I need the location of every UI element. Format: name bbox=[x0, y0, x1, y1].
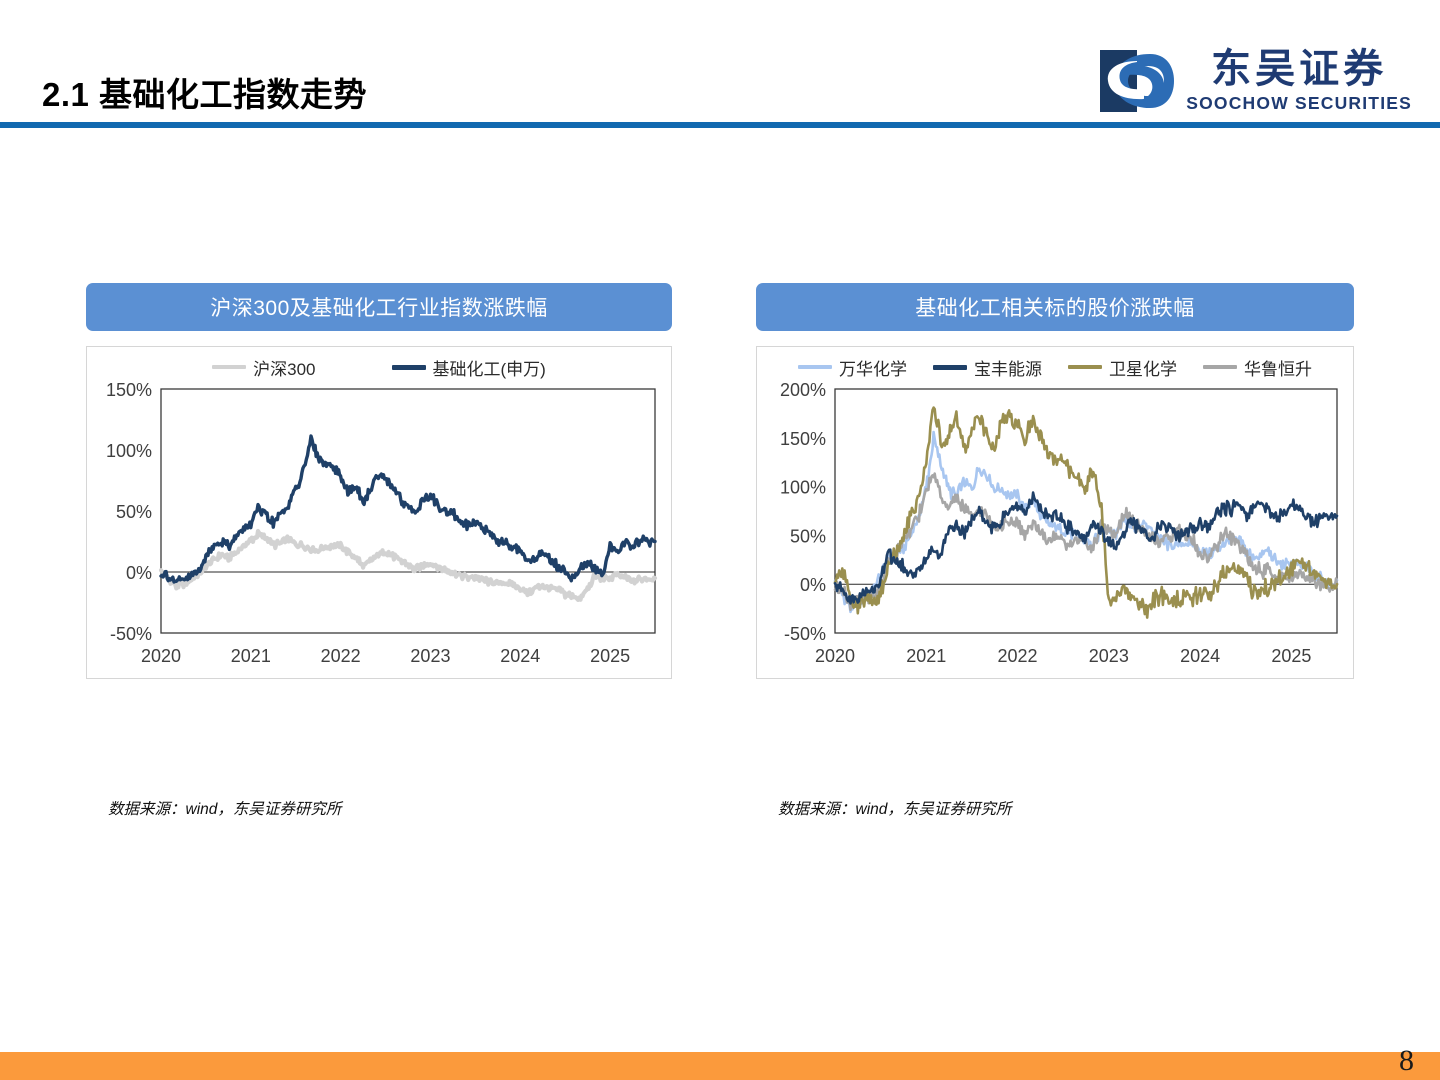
svg-text:2021: 2021 bbox=[906, 646, 946, 666]
svg-text:150%: 150% bbox=[780, 429, 826, 449]
chart-left-svg: -50%0%50%100%150%20202021202220232024202… bbox=[87, 381, 671, 673]
legend-label-hs300: 沪深300 bbox=[253, 355, 315, 380]
svg-text:-50%: -50% bbox=[110, 624, 152, 644]
svg-text:2020: 2020 bbox=[141, 646, 181, 666]
svg-text:2023: 2023 bbox=[410, 646, 450, 666]
svg-text:0%: 0% bbox=[126, 563, 152, 583]
legend-label-baofeng: 宝丰能源 bbox=[974, 355, 1042, 380]
svg-text:2025: 2025 bbox=[590, 646, 630, 666]
svg-text:100%: 100% bbox=[780, 478, 826, 498]
svg-text:2023: 2023 bbox=[1089, 646, 1129, 666]
legend-label-wanhua: 万华化学 bbox=[839, 355, 907, 380]
legend-swatch-chemicals bbox=[392, 365, 426, 370]
chart-left-banner-label: 沪深300及基础化工行业指数涨跌幅 bbox=[210, 292, 548, 322]
legend-label-weixing: 卫星化学 bbox=[1109, 355, 1177, 380]
legend-item-chemicals: 基础化工(申万) bbox=[392, 355, 546, 380]
chart-block-right: 基础化工相关标的股价涨跌幅 万华化学 宝丰能源 卫星化学 华鲁恒升 bbox=[756, 283, 1354, 679]
chart-right-frame: 万华化学 宝丰能源 卫星化学 华鲁恒升 -50%0%50%100%150%200… bbox=[756, 346, 1354, 679]
legend-label-hualu: 华鲁恒升 bbox=[1244, 355, 1312, 380]
header-divider-rule bbox=[0, 122, 1440, 128]
svg-text:0%: 0% bbox=[800, 575, 826, 595]
slide: 2.1 基础化工指数走势 东吴证券 SOOCHOW SECURITIES 沪深3… bbox=[0, 0, 1440, 1080]
logo-english-name: SOOCHOW SECURITIES bbox=[1186, 93, 1412, 114]
svg-text:2025: 2025 bbox=[1271, 646, 1311, 666]
chart-right-legend: 万华化学 宝丰能源 卫星化学 华鲁恒升 bbox=[757, 347, 1353, 381]
svg-text:2021: 2021 bbox=[231, 646, 271, 666]
chart-right-banner: 基础化工相关标的股价涨跌幅 bbox=[756, 283, 1354, 331]
legend-item-weixing: 卫星化学 bbox=[1068, 355, 1177, 380]
logo-chinese-name: 东吴证券 bbox=[1211, 48, 1387, 90]
legend-swatch-hualu bbox=[1203, 365, 1237, 369]
legend-item-hualu: 华鲁恒升 bbox=[1203, 355, 1312, 380]
svg-text:-50%: -50% bbox=[784, 624, 826, 644]
svg-text:50%: 50% bbox=[790, 526, 826, 546]
legend-item-hs300: 沪深300 bbox=[212, 355, 315, 380]
page-title: 2.1 基础化工指数走势 bbox=[42, 68, 367, 116]
chart-right-plot: -50%0%50%100%150%200%2020202120222023202… bbox=[757, 381, 1353, 673]
svg-text:200%: 200% bbox=[780, 381, 826, 400]
svg-text:2022: 2022 bbox=[998, 646, 1038, 666]
chart-right-svg: -50%0%50%100%150%200%2020202120222023202… bbox=[757, 381, 1353, 673]
chart-left-source-note: 数据来源：wind，东吴证券研究所 bbox=[108, 797, 341, 819]
legend-item-wanhua: 万华化学 bbox=[798, 355, 907, 380]
svg-text:2024: 2024 bbox=[1180, 646, 1220, 666]
chart-left-legend: 沪深300 基础化工(申万) bbox=[87, 347, 671, 381]
svg-text:2020: 2020 bbox=[815, 646, 855, 666]
legend-swatch-baofeng bbox=[933, 365, 967, 370]
footer-bar bbox=[0, 1052, 1440, 1080]
company-logo: 东吴证券 SOOCHOW SECURITIES bbox=[1100, 48, 1412, 114]
legend-label-chemicals: 基础化工(申万) bbox=[433, 355, 546, 380]
legend-item-baofeng: 宝丰能源 bbox=[933, 355, 1042, 380]
chart-block-left: 沪深300及基础化工行业指数涨跌幅 沪深300 基础化工(申万) -50%0%5… bbox=[86, 283, 672, 679]
svg-text:50%: 50% bbox=[116, 502, 152, 522]
legend-swatch-wanhua bbox=[798, 365, 832, 369]
chart-left-plot: -50%0%50%100%150%20202021202220232024202… bbox=[87, 381, 671, 673]
chart-right-banner-label: 基础化工相关标的股价涨跌幅 bbox=[915, 292, 1195, 322]
legend-swatch-hs300 bbox=[212, 365, 246, 369]
svg-text:2024: 2024 bbox=[500, 646, 540, 666]
legend-swatch-weixing bbox=[1068, 365, 1102, 369]
chart-right-source-note: 数据来源：wind，东吴证券研究所 bbox=[778, 797, 1011, 819]
logo-text: 东吴证券 SOOCHOW SECURITIES bbox=[1186, 48, 1412, 114]
svg-text:100%: 100% bbox=[106, 441, 152, 461]
chart-left-banner: 沪深300及基础化工行业指数涨跌幅 bbox=[86, 283, 672, 331]
svg-text:2022: 2022 bbox=[321, 646, 361, 666]
svg-text:150%: 150% bbox=[106, 381, 152, 400]
chart-left-frame: 沪深300 基础化工(申万) -50%0%50%100%150%20202021… bbox=[86, 346, 672, 679]
page-number: 8 bbox=[1399, 1044, 1414, 1078]
soochow-s-logo-icon bbox=[1100, 50, 1174, 112]
